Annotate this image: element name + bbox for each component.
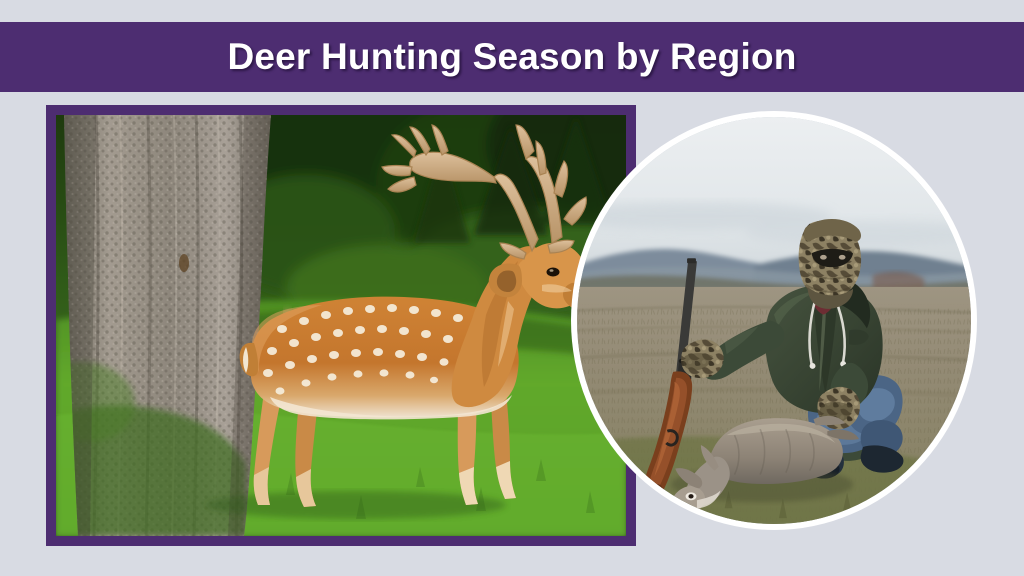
hunter-with-harvested-deer-photo [577,117,971,524]
page-title: Deer Hunting Season by Region [227,36,796,78]
fallow-deer-illustration [56,115,626,536]
title-banner: Deer Hunting Season by Region [0,22,1024,92]
hunter-illustration [577,117,971,524]
slide-canvas: Deer Hunting Season by Region [0,0,1024,576]
fallow-deer-photo [56,115,626,536]
right-photo-circle-frame [571,111,977,530]
left-photo-frame [46,105,636,546]
